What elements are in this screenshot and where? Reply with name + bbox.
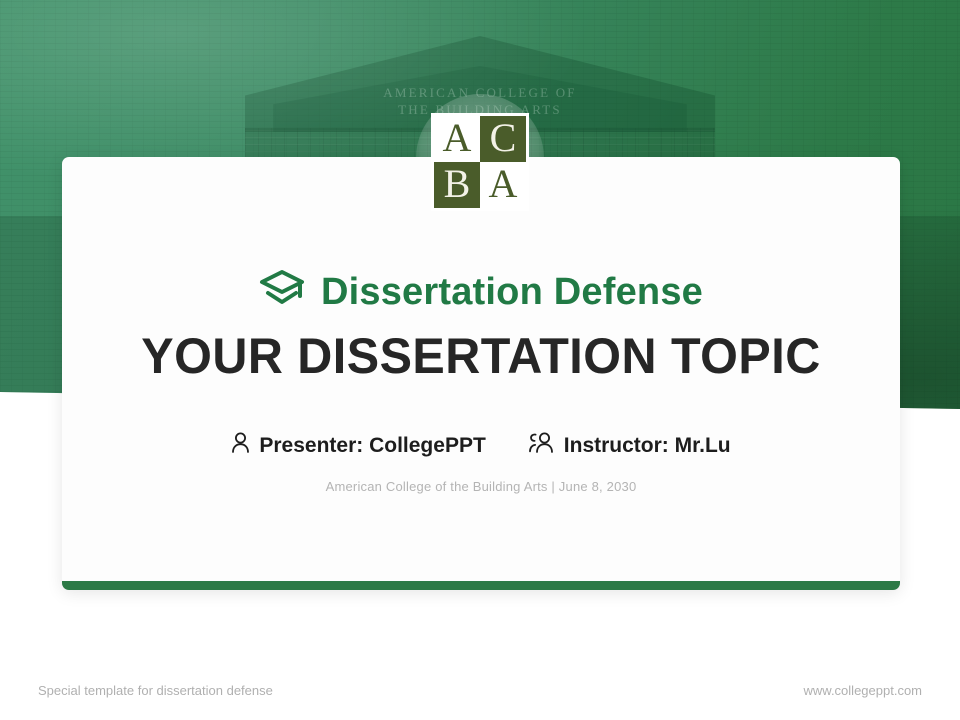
graduation-cap-icon [259,269,305,314]
person-icon [231,432,250,459]
instructor-label: Instructor: Mr.Lu [564,434,731,458]
presentation-slide: AMERICAN COLLEGE OF THE BUILDING ARTS Di… [0,0,960,720]
logo-letter-a2: A [480,162,526,208]
acba-logo: A C B A [431,113,529,211]
presenter-label: Presenter: CollegePPT [259,434,485,458]
eyebrow-label: Dissertation Defense [321,273,703,311]
footer-right-text: www.collegeppt.com [804,683,923,698]
presenter-item: Presenter: CollegePPT [231,432,485,459]
card-content: Dissertation Defense YOUR DISSERTATION T… [62,269,900,494]
logo-letter-c: C [480,116,526,162]
slide-footer: Special template for dissertation defens… [0,683,960,698]
title-card: Dissertation Defense YOUR DISSERTATION T… [62,157,900,590]
footer-left-text: Special template for dissertation defens… [38,683,273,698]
logo-letter-a1: A [434,116,480,162]
instructor-item: Instructor: Mr.Lu [528,432,731,459]
card-accent-bar [62,581,900,590]
people-row: Presenter: CollegePPT Instructor: Mr.Lu [62,432,900,459]
card-meta: American College of the Building Arts | … [62,479,900,494]
eyebrow-row: Dissertation Defense [62,269,900,314]
logo-letter-b: B [434,162,480,208]
people-icon [528,432,555,459]
page-title: YOUR DISSERTATION TOPIC [75,328,888,384]
